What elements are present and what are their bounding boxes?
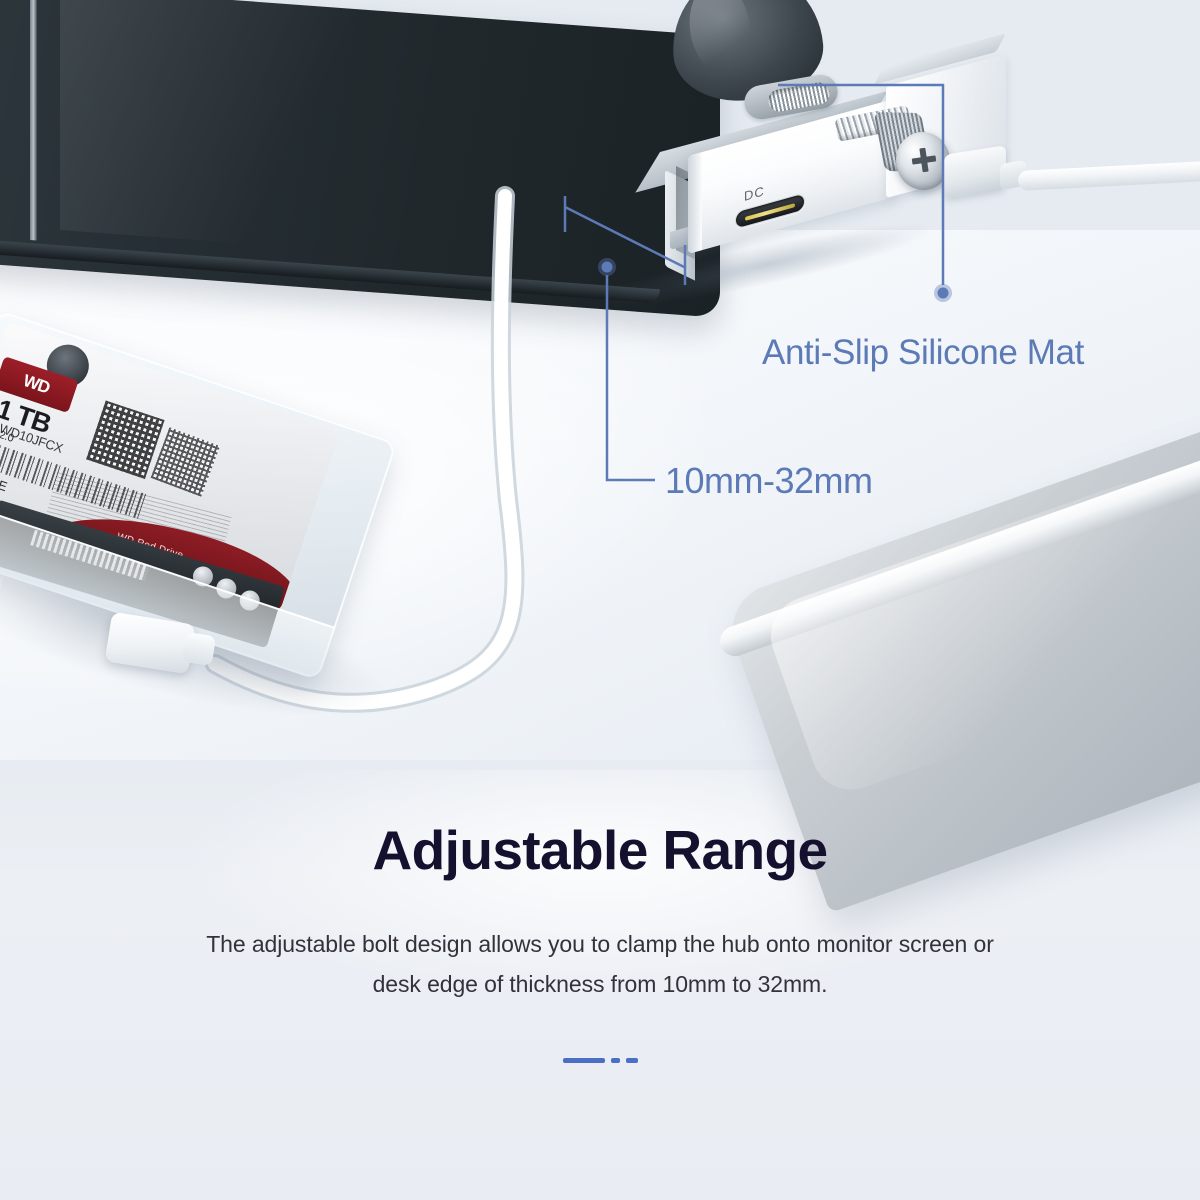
callout-label-silicone-mat: Anti-Slip Silicone Mat <box>762 333 1084 373</box>
description-line-1: The adjustable bolt design allows you to… <box>100 925 1100 965</box>
callout-lines <box>0 0 1200 1200</box>
decorative-divider <box>0 1058 1200 1063</box>
divider-dash-long <box>563 1058 605 1063</box>
divider-dash-medium <box>611 1058 620 1063</box>
callout-label-adjustable-range: 10mm-32mm <box>665 460 873 502</box>
page-title: Adjustable Range <box>0 818 1200 882</box>
page-description: The adjustable bolt design allows you to… <box>100 925 1100 1004</box>
divider-dash-short <box>626 1058 638 1063</box>
product-feature-image: DC WD 1 TB WD10JFCX ware 2.0 <box>0 0 1200 1200</box>
description-line-2: desk edge of thickness from 10mm to 32mm… <box>100 965 1100 1005</box>
